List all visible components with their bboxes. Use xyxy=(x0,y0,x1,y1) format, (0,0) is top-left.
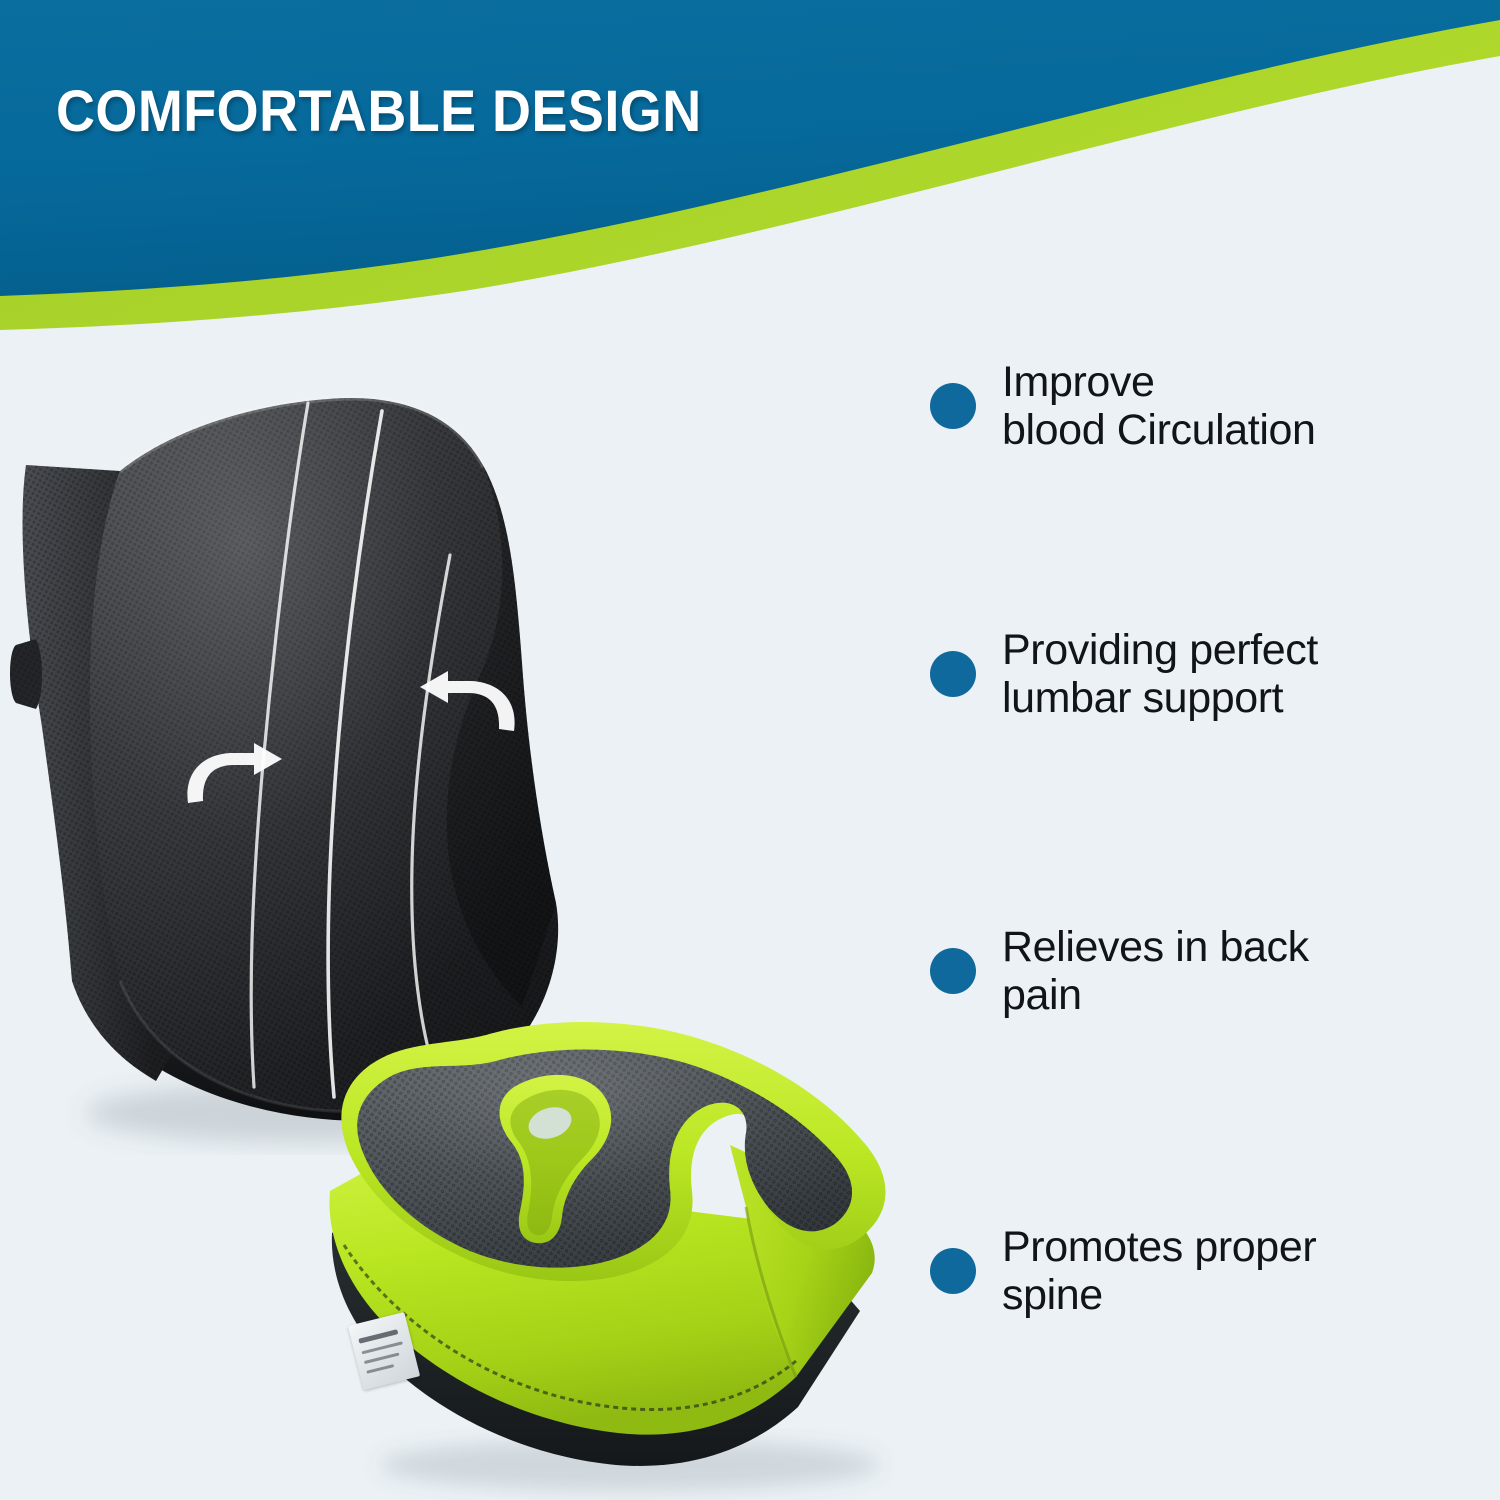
benefit-label: Providing perfect lumbar support xyxy=(1002,626,1318,722)
tag-text-line xyxy=(358,1329,398,1344)
benefit-item-1: Providing perfect lumbar support xyxy=(930,626,1318,722)
bullet-dot-icon xyxy=(930,383,976,429)
benefit-item-0: Improve blood Circulation xyxy=(930,358,1316,454)
bullet-dot-icon xyxy=(930,1248,976,1294)
benefit-label: Improve blood Circulation xyxy=(1002,358,1316,454)
bullet-dot-icon xyxy=(930,651,976,697)
benefit-item-2: Relieves in back pain xyxy=(930,923,1309,1019)
benefit-label: Relieves in back pain xyxy=(1002,923,1309,1019)
tag-text-line xyxy=(366,1364,394,1374)
benefit-label: Promotes proper spine xyxy=(1002,1223,1316,1319)
header-banner-shape xyxy=(0,0,1500,296)
infographic-canvas: COMFORTABLE DESIGN xyxy=(0,0,1500,1500)
bullet-dot-icon xyxy=(930,948,976,994)
benefits-list: Improve blood Circulation Providing perf… xyxy=(930,358,1490,1368)
benefit-item-3: Promotes proper spine xyxy=(930,1223,1316,1319)
seat-cushion-image xyxy=(300,995,940,1500)
side-strap-tab xyxy=(10,639,42,709)
header-banner: COMFORTABLE DESIGN xyxy=(0,0,1500,330)
tag-text-line xyxy=(364,1352,400,1364)
page-title: COMFORTABLE DESIGN xyxy=(56,78,702,145)
